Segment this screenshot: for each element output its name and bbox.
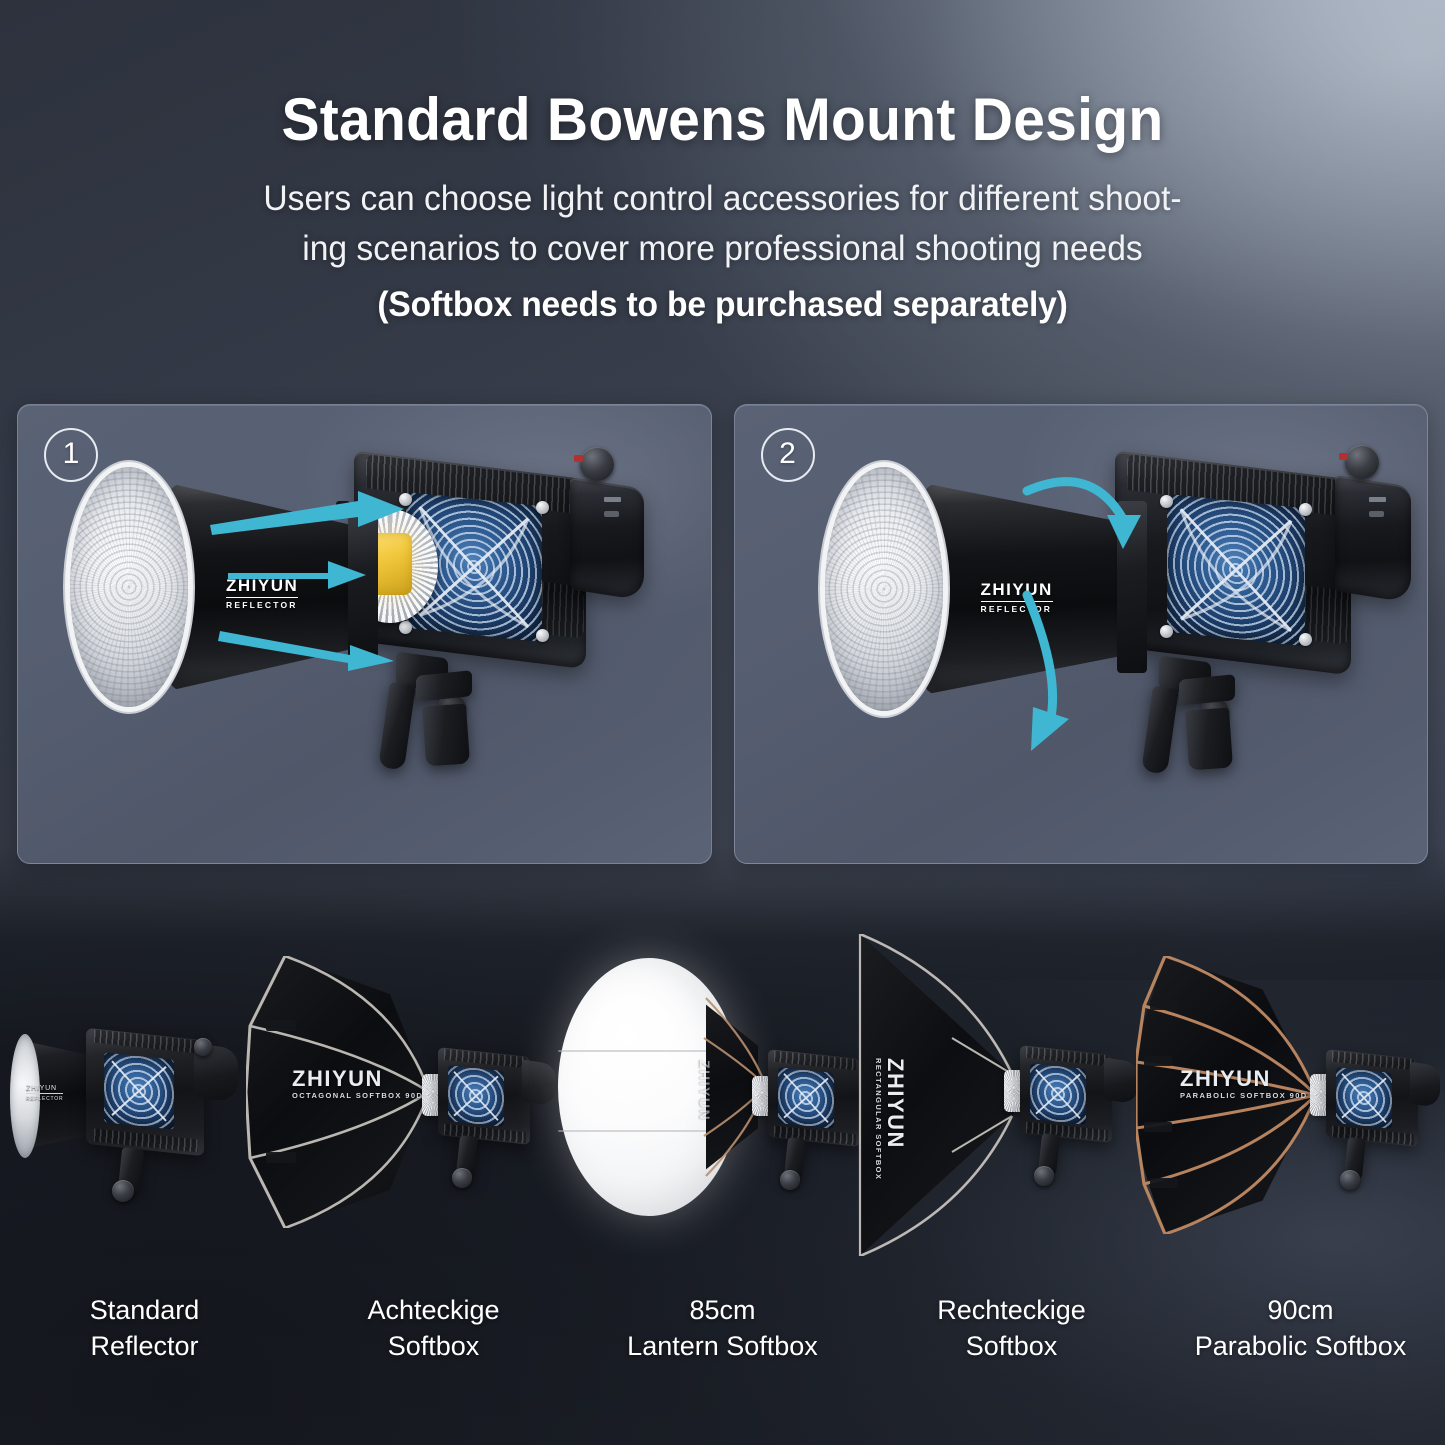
octagon-brand-text: ZHIYUN: [292, 1068, 423, 1090]
caption-lantern-softbox: 85cm Lantern Softbox: [578, 1292, 867, 1365]
fan-screw-tr-2: [1299, 503, 1312, 516]
subtitle-line-2: ing scenarios to cover more professional…: [29, 224, 1416, 274]
panel-2-badge: 2: [761, 428, 815, 482]
arrow-top-1: [208, 487, 408, 547]
caption-octagonal-softbox: Achteckige Softbox: [289, 1292, 578, 1365]
reflector-mouth-1: [70, 467, 188, 707]
page-subtitle: Users can choose light control accessori…: [29, 174, 1416, 331]
fan-screw-br-1: [536, 629, 549, 642]
lantern-branding: ZHIYUN: [698, 1060, 712, 1121]
panel-row: 1: [17, 404, 1428, 864]
fan-wires-mini-2: [448, 1065, 504, 1127]
port-usb-1: [604, 511, 619, 517]
arrow-bottom-1: [218, 617, 398, 673]
stand-knob-mini-1: [112, 1180, 134, 1202]
parabolic-brand-text: ZHIYUN: [1180, 1068, 1308, 1090]
fan-mini-3: [778, 1067, 834, 1129]
parabolic-model-text: PARABOLIC SOFTBOX 90D: [1180, 1092, 1308, 1100]
rotation-arrow-bottom-2: [1003, 575, 1143, 765]
stand-knob-mini-3: [780, 1170, 800, 1190]
knob-indicator-2: [1339, 453, 1348, 460]
fan-wires-mini-1: [104, 1052, 174, 1129]
light-tail-mini-5: [1410, 1062, 1440, 1109]
reflector-brand-mini-text: ZHIYUN: [26, 1085, 57, 1092]
rect-model-text: RECTANGULAR SOFTBOX: [875, 1058, 883, 1180]
product-standard-reflector: ZHIYUN REFLECTOR: [8, 1008, 238, 1208]
reflector-mouth-2: [825, 467, 943, 711]
product-rectangular-softbox: ZHIYUN RECTANGULAR SOFTBOX: [856, 930, 1156, 1260]
cooling-fan-2: [1167, 494, 1305, 647]
product-captions: Standard Reflector Achteckige Softbox 85…: [0, 1292, 1445, 1365]
light-tail-1: [570, 477, 644, 601]
caption-standard-reflector: Standard Reflector: [0, 1292, 289, 1365]
fan-mini-4: [1030, 1063, 1086, 1125]
caption-3-line-2: Lantern Softbox: [578, 1328, 867, 1364]
subtitle-line-1: Users can choose light control accessori…: [29, 174, 1416, 224]
caption-parabolic-softbox: 90cm Parabolic Softbox: [1156, 1292, 1445, 1365]
fan-wires-mini-3: [778, 1067, 834, 1129]
arrow-middle-1: [228, 555, 368, 595]
rect-brand-text: ZHIYUN: [884, 1058, 906, 1180]
light-tail-2: [1335, 475, 1411, 603]
stand-mount-1: [422, 704, 470, 767]
octagon-model-text: OCTAGONAL SOFTBOX 90D: [292, 1092, 423, 1100]
panel-1-badge: 1: [44, 428, 98, 482]
stand-knob-mini-2: [452, 1168, 472, 1188]
panel-1: 1: [17, 404, 712, 864]
stand-knob-mini-5: [1340, 1170, 1360, 1190]
caption-3-line-1: 85cm: [578, 1292, 867, 1328]
fan-grille-wires-2: [1167, 494, 1305, 647]
octagon-branding: ZHIYUN OCTAGONAL SOFTBOX 90D: [292, 1068, 423, 1100]
fan-mini-1: [104, 1052, 174, 1129]
knob-mini-1: [194, 1038, 212, 1056]
reflector-brand-mini: ZHIYUN REFLECTOR: [26, 1084, 78, 1102]
light-fixture-2: ZHIYUN REFLECTOR: [735, 405, 1428, 863]
reflector-model-mini-text: REFLECTOR: [26, 1093, 63, 1104]
fan-screw-bl-2: [1160, 625, 1173, 638]
lantern-brand-text: ZHIYUN: [698, 1060, 712, 1121]
port-usb-2: [1369, 511, 1384, 517]
fan-wires-mini-5: [1336, 1067, 1392, 1129]
yoke-plate-2: [1179, 674, 1235, 706]
fan-screw-tr-1: [536, 501, 549, 514]
header-block: Standard Bowens Mount Design Users can c…: [0, 88, 1445, 331]
parabolic-branding: ZHIYUN PARABOLIC SOFTBOX 90D: [1180, 1068, 1308, 1100]
caption-rectangular-softbox: Rechteckige Softbox: [867, 1292, 1156, 1365]
light-tail-mini-4: [1104, 1057, 1138, 1104]
caption-5-line-1: 90cm: [1156, 1292, 1445, 1328]
fan-screw-bl-1: [399, 621, 412, 634]
yoke-arm-1: [378, 682, 416, 771]
rect-branding: ZHIYUN RECTANGULAR SOFTBOX: [875, 1058, 907, 1180]
caption-2-line-2: Softbox: [289, 1328, 578, 1364]
fan-wires-mini-4: [1030, 1063, 1086, 1125]
control-knob-2: [1345, 445, 1379, 479]
product-lantern-softbox: ZHIYUN: [556, 954, 856, 1244]
product-infographic: Standard Bowens Mount Design Users can c…: [0, 0, 1445, 1445]
panel-2: 2: [734, 404, 1429, 864]
page-title: Standard Bowens Mount Design: [36, 88, 1409, 152]
stand-mount-2: [1184, 708, 1232, 771]
caption-1-line-2: Reflector: [0, 1328, 289, 1364]
yoke-plate-1: [416, 670, 472, 702]
light-tail-mini-2: [522, 1059, 556, 1106]
control-knob-1: [580, 447, 614, 481]
product-parabolic-softbox: ZHIYUN PARABOLIC SOFTBOX 90D: [1136, 946, 1438, 1246]
stand-knob-mini-4: [1034, 1166, 1054, 1186]
reflector-model-1: REFLECTOR: [226, 597, 298, 610]
yoke-arm-2: [1141, 686, 1179, 775]
fan-mini-5: [1336, 1067, 1392, 1129]
port-label-1: [604, 497, 621, 502]
knob-indicator-1: [574, 455, 583, 462]
product-row: ZHIYUN REFLECTOR: [0, 930, 1445, 1270]
subtitle-note: (Softbox needs to be purchased separatel…: [29, 280, 1416, 330]
caption-5-line-2: Parabolic Softbox: [1156, 1328, 1445, 1364]
rotation-arrow-top-2: [1015, 457, 1175, 567]
product-octagonal-softbox: ZHIYUN OCTAGONAL SOFTBOX 90D: [246, 946, 536, 1246]
caption-4-line-1: Rechteckige: [867, 1292, 1156, 1328]
light-fixture-1: ZHIYUN REFLECTOR: [18, 405, 711, 863]
caption-4-line-2: Softbox: [867, 1328, 1156, 1364]
caption-2-line-1: Achteckige: [289, 1292, 578, 1328]
port-label-2: [1369, 497, 1386, 502]
caption-1-line-1: Standard: [0, 1292, 289, 1328]
fan-screw-br-2: [1299, 633, 1312, 646]
fan-mini-2: [448, 1065, 504, 1127]
